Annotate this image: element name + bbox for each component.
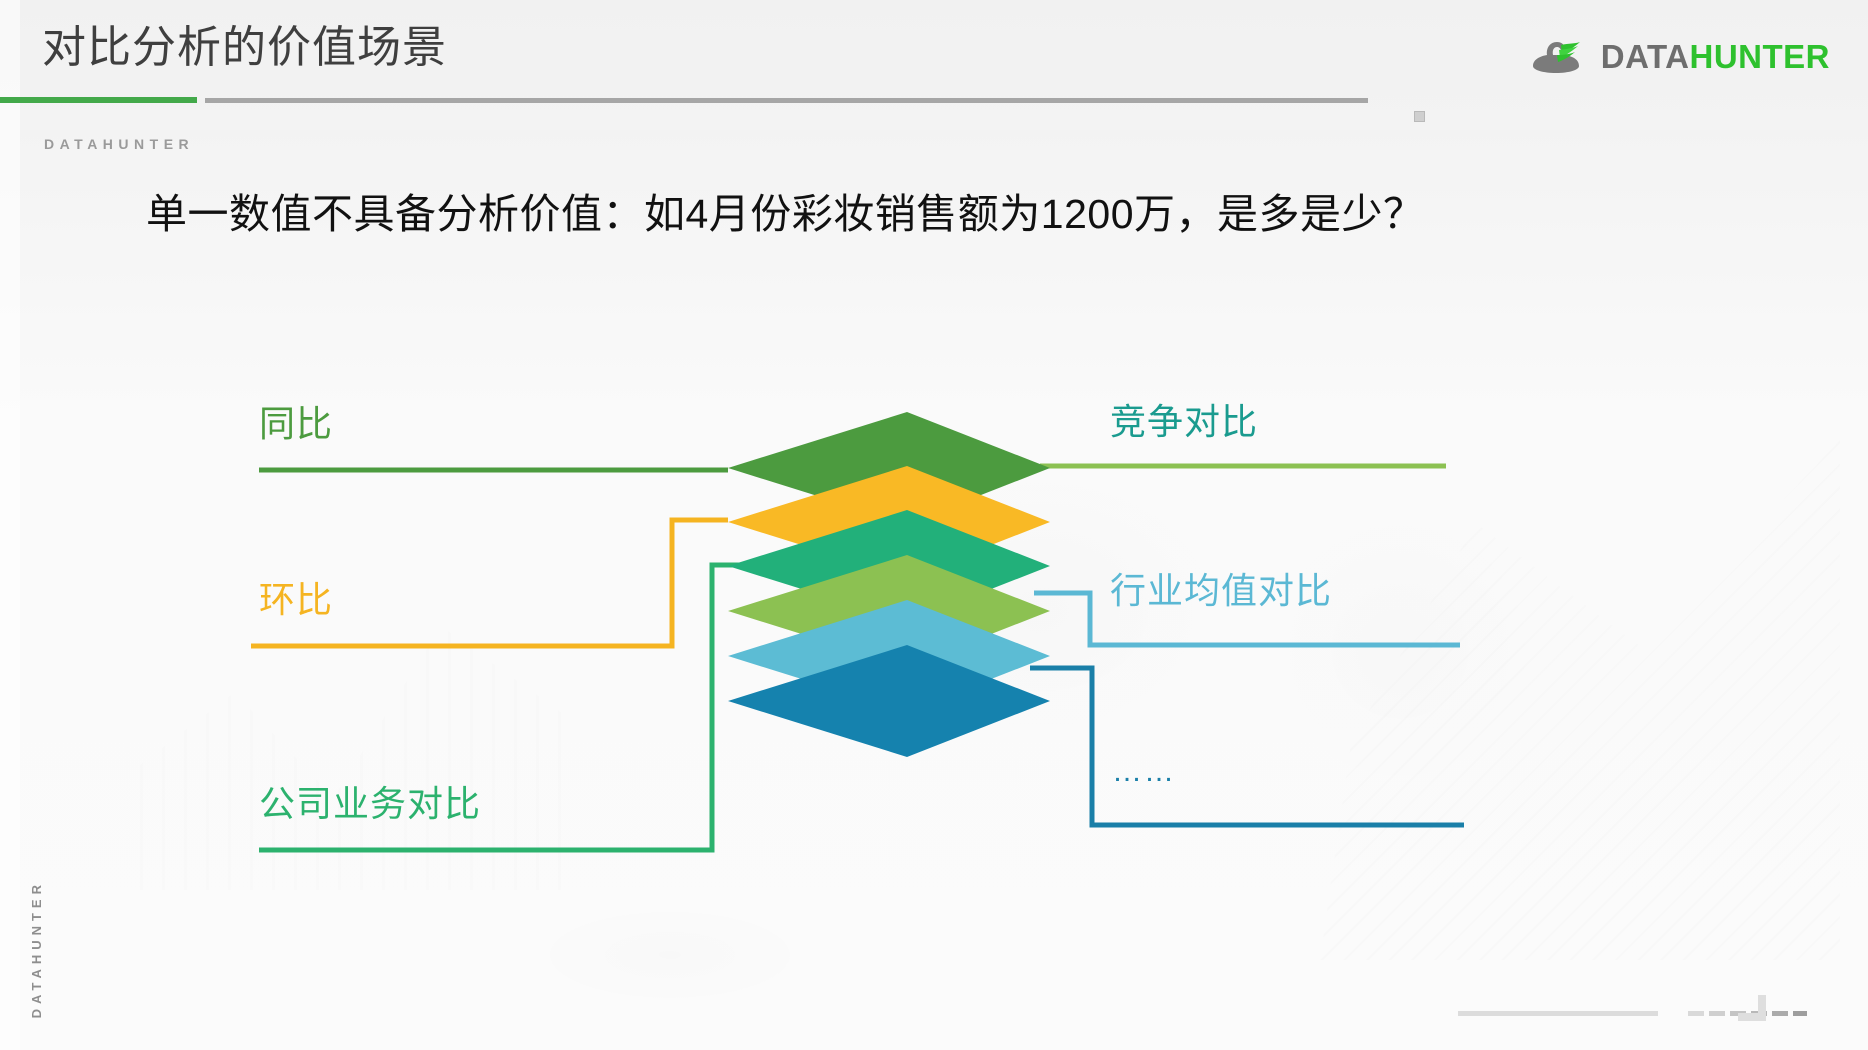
label-hangye-junzhi-duibi: 行业均值对比 xyxy=(1110,562,1332,614)
layer-stack xyxy=(700,400,1050,760)
label-gongsi-yewu-duibi: 公司业务对比 xyxy=(259,775,481,827)
footer-dash-5 xyxy=(1772,1011,1788,1016)
footer-dash-1 xyxy=(1688,1011,1704,1016)
footer-dash-6 xyxy=(1793,1011,1807,1016)
layered-comparison-diagram: 同比 环比 公司业务对比 竞争对比 行业均值对比 …… xyxy=(0,0,1868,1050)
label-tongbi: 同比 xyxy=(259,395,333,447)
footer-corner-mark xyxy=(1738,995,1766,1021)
label-huanbi: 环比 xyxy=(259,571,333,623)
footer-dash-2 xyxy=(1709,1011,1725,1016)
label-ellipsis: …… xyxy=(1112,755,1176,789)
slide-canvas: 对比分析的价值场景 DATAHUNTER DATAHUNTER 单一数值不具备分… xyxy=(0,0,1868,1050)
side-brand-label: DATAHUNTER xyxy=(29,880,44,1018)
connector-ellipsis xyxy=(1030,668,1464,825)
label-jingzheng-duibi: 竞争对比 xyxy=(1110,393,1258,445)
footer-progress-line xyxy=(1458,1011,1658,1016)
